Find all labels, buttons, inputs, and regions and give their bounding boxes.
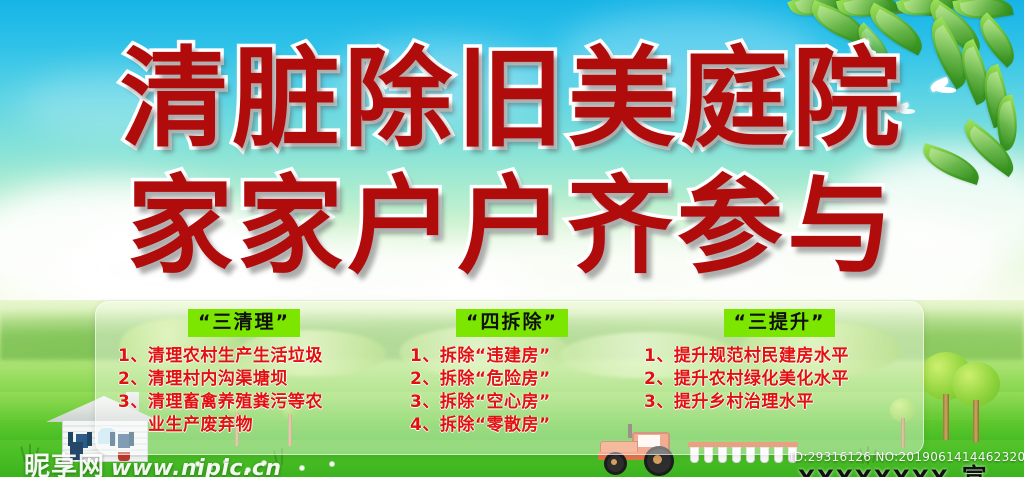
list-item: 3、提升乡村治理水平 (636, 391, 923, 414)
window-shutter (87, 432, 92, 446)
list-item: 1、拆除“违建房” (392, 345, 632, 368)
column-3-header-row: “三提升” (636, 302, 923, 337)
panel-column-2: “四拆除” 1、拆除“违建房” 2、拆除“危险房” 3、拆除“空心房” 4、拆除… (392, 302, 632, 454)
site-url: www.nipic.cn (111, 456, 282, 477)
column-3-heading: “三提升” (724, 309, 836, 337)
publisher-org: XXXXXXXX (798, 467, 950, 477)
poster-canvas: 清脏除旧美庭院 家家户户齐参与 “三清理” 1、清理农村生产生活垃圾 2、清理村… (0, 0, 1024, 477)
list-item: 2、提升农村绿化美化水平 (636, 368, 923, 391)
content-panel: “三清理” 1、清理农村生产生活垃圾 2、清理村内沟渠塘坝 3、清理畜禽养殖粪污… (95, 301, 924, 455)
column-3-items: 1、提升规范村民建房水平 2、提升农村绿化美化水平 3、提升乡村治理水平 (636, 345, 923, 414)
site-name: 昵享网 (24, 446, 105, 477)
list-item: 3、清理畜禽养殖粪污等农 (104, 391, 384, 414)
column-2-header-row: “四拆除” (392, 302, 632, 337)
list-item: 3、拆除“空心房” (392, 391, 632, 414)
tree (952, 362, 1000, 442)
panel-column-3: “三提升” 1、提升规范村民建房水平 2、提升农村绿化美化水平 3、提升乡村治理… (636, 302, 923, 454)
list-item: 2、清理村内沟渠塘坝 (104, 368, 384, 391)
panel-column-1: “三清理” 1、清理农村生产生活垃圾 2、清理村内沟渠塘坝 3、清理畜禽养殖粪污… (104, 302, 384, 454)
panel-columns: “三清理” 1、清理农村生产生活垃圾 2、清理村内沟渠塘坝 3、清理畜禽养殖粪污… (96, 302, 923, 454)
site-watermark: 昵享网 www.nipic.cn (24, 446, 282, 477)
tractor-front-wheel (604, 452, 627, 475)
column-2-heading: “四拆除” (456, 309, 568, 337)
headline-line-2: 家家户户齐参与 (0, 172, 1024, 282)
column-1-header-row: “三清理” (104, 302, 384, 337)
publisher-suffix: 宣 (962, 458, 987, 477)
field-flower (330, 462, 334, 466)
field-flower (300, 466, 304, 470)
publisher-signature: XXXXXXXX 宣 (798, 458, 987, 477)
column-2-items: 1、拆除“违建房” 2、拆除“危险房” 3、拆除“空心房” 4、拆除“零散房” (392, 345, 632, 437)
list-item: 1、清理农村生产生活垃圾 (104, 345, 384, 368)
list-item-continuation: 业生产废弃物 (104, 414, 384, 437)
headline-line-1: 清脏除旧美庭院 (0, 44, 1024, 156)
list-item: 4、拆除“零散房” (392, 414, 632, 437)
list-item: 2、拆除“危险房” (392, 368, 632, 391)
list-item: 1、提升规范村民建房水平 (636, 345, 923, 368)
column-1-items: 1、清理农村生产生活垃圾 2、清理村内沟渠塘坝 3、清理畜禽养殖粪污等农 业生产… (104, 345, 384, 437)
column-1-heading: “三清理” (188, 309, 300, 337)
